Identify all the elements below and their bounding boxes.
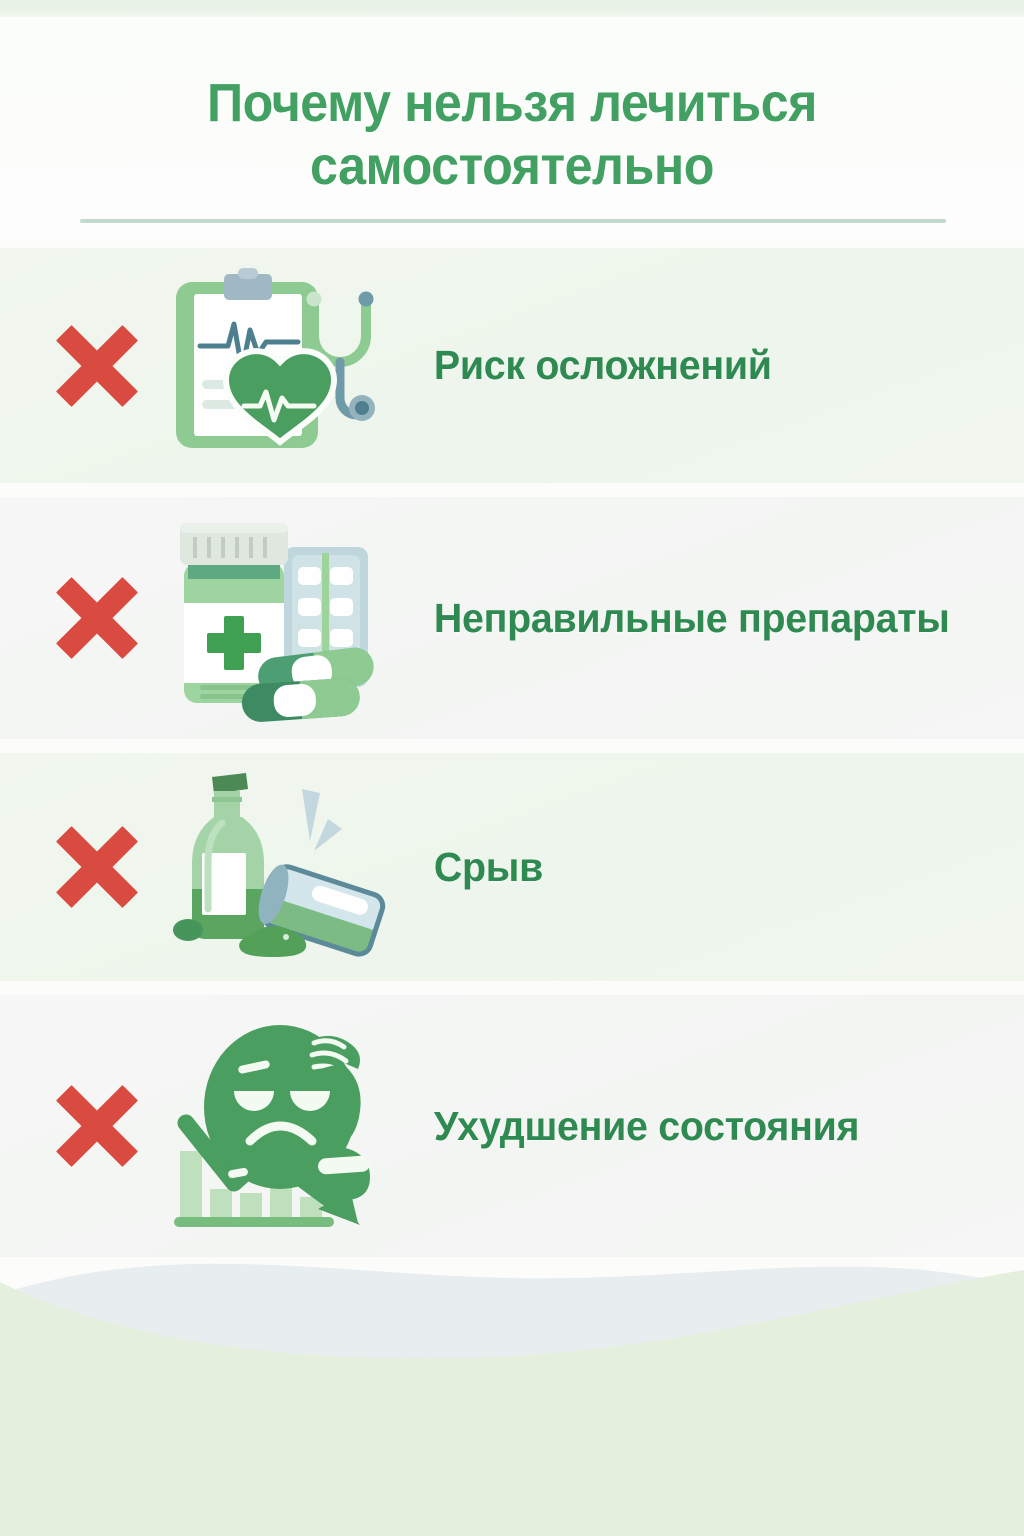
list-item-label: Риск осложнений <box>407 340 999 390</box>
list-item-risk-complications[interactable]: Риск осложнений <box>0 248 1024 483</box>
pill-bottle-blister-capsules-icon <box>157 497 407 739</box>
page-title: Почему нельзя лечиться самостоятельно <box>94 72 931 197</box>
red-x-icon <box>55 1084 139 1168</box>
red-x-icon <box>55 576 139 660</box>
list-item-label: Неправильные препараты <box>407 593 999 643</box>
top-accent-band <box>0 0 1024 17</box>
clipboard-heart-stethoscope-icon <box>157 248 407 483</box>
bottle-spilled-glass-icon <box>157 753 407 981</box>
list-item-label: Срыв <box>407 842 999 892</box>
red-x-icon <box>55 825 139 909</box>
reasons-list: Риск осложнений <box>0 248 1024 1271</box>
list-item-relapse[interactable]: Срыв <box>0 753 1024 981</box>
title-divider <box>80 219 946 223</box>
red-x-icon <box>55 324 139 408</box>
infographic-page: Почему нельзя лечиться самостоятельно <box>0 0 1024 1536</box>
page-title-line-1: Почему нельзя лечиться <box>94 72 931 135</box>
list-item-label: Ухудшение состояния <box>407 1101 999 1151</box>
list-item-wrong-medications[interactable]: Неправильные препараты <box>0 497 1024 739</box>
sad-face-declining-chart-icon <box>157 995 407 1257</box>
header: Почему нельзя лечиться самостоятельно <box>0 17 1024 240</box>
footer-decoration <box>0 1236 1024 1536</box>
page-title-line-2: самостоятельно <box>94 135 931 198</box>
list-item-worsening-condition[interactable]: Ухудшение состояния <box>0 995 1024 1257</box>
